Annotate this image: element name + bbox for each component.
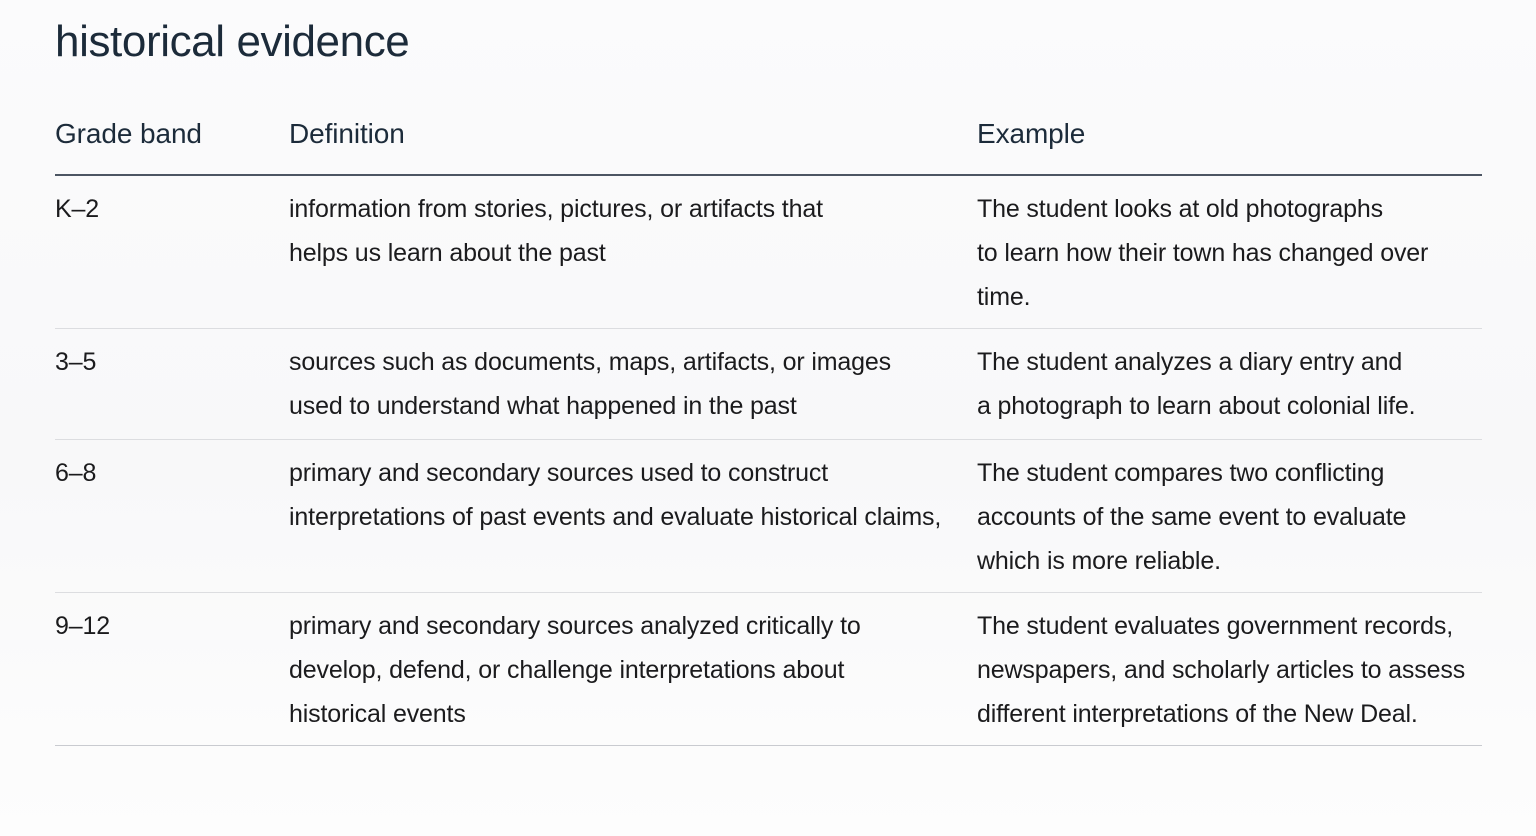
definition-line: develop, defend, or challenge interpreta…: [289, 648, 989, 692]
cell-grade-band: 6–8: [55, 440, 285, 495]
table-row: 3–5 sources such as documents, maps, art…: [55, 329, 1482, 439]
example-line: The student evaluates government records…: [977, 604, 1482, 648]
example-line: The student analyzes a diary entry and: [977, 340, 1482, 384]
definition-line: helps us learn about the past: [289, 231, 989, 275]
definition-line: sources such as documents, maps, artifac…: [289, 340, 989, 384]
column-header-grade-band: Grade band: [55, 118, 202, 150]
definition-line: used to understand what happened in the …: [289, 384, 989, 428]
grade-band-definition-table: Grade band Definition Example K–2 inform…: [55, 110, 1482, 746]
cell-example: The student analyzes a diary entry and a…: [977, 329, 1482, 428]
document-page: historical evidence Grade band Definitio…: [0, 0, 1536, 836]
example-line: newspapers, and scholarly articles to as…: [977, 648, 1482, 692]
cell-grade-band: 3–5: [55, 329, 285, 384]
cell-definition: primary and secondary sources analyzed c…: [289, 593, 989, 736]
example-line: time.: [977, 275, 1482, 319]
table-bottom-divider: [55, 745, 1482, 746]
cell-definition: information from stories, pictures, or a…: [289, 176, 989, 275]
definition-line: interpretations of past events and evalu…: [289, 495, 989, 539]
definition-line: primary and secondary sources used to co…: [289, 451, 989, 495]
example-line: which is more reliable.: [977, 539, 1482, 583]
definition-line: primary and secondary sources analyzed c…: [289, 604, 989, 648]
definition-line: information from stories, pictures, or a…: [289, 187, 989, 231]
example-line: The student looks at old photographs: [977, 187, 1482, 231]
table-row: 9–12 primary and secondary sources analy…: [55, 593, 1482, 745]
cell-definition: primary and secondary sources used to co…: [289, 440, 989, 539]
table-row: 6–8 primary and secondary sources used t…: [55, 440, 1482, 592]
example-line: The student compares two conflicting: [977, 451, 1482, 495]
example-line: to learn how their town has changed over: [977, 231, 1482, 275]
table-row: K–2 information from stories, pictures, …: [55, 176, 1482, 328]
definition-line: historical events: [289, 692, 989, 736]
table-header-row: Grade band Definition Example: [55, 110, 1482, 174]
example-line: different interpretations of the New Dea…: [977, 692, 1482, 736]
cell-example: The student compares two conflicting acc…: [977, 440, 1482, 583]
example-line: accounts of the same event to evaluate: [977, 495, 1482, 539]
cell-grade-band: 9–12: [55, 593, 285, 648]
page-title: historical evidence: [55, 14, 409, 69]
column-header-definition: Definition: [289, 118, 405, 150]
example-line: a photograph to learn about colonial lif…: [977, 384, 1482, 428]
cell-definition: sources such as documents, maps, artifac…: [289, 329, 989, 428]
cell-example: The student looks at old photographs to …: [977, 176, 1482, 319]
cell-grade-band: K–2: [55, 176, 285, 231]
cell-example: The student evaluates government records…: [977, 593, 1482, 736]
column-header-example: Example: [977, 118, 1085, 150]
